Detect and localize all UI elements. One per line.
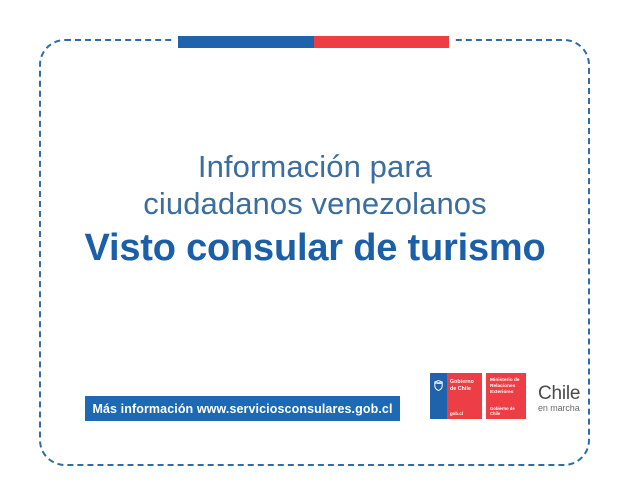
ministerio-label-line-3: Exteriores [490,390,520,396]
coat-of-arms-icon [432,379,445,392]
more-info-banner[interactable]: Más información www.serviciosconsulares.… [85,396,400,421]
gobierno-blue-bar [430,373,447,419]
gobierno-de-chile-logo: Gobierno de Chile gob.cl [430,373,482,419]
gobierno-label-line-1: Gobierno [450,379,474,386]
more-info-banner-text: Más información www.serviciosconsulares.… [92,402,392,416]
flag-stripe-bar [178,36,449,48]
chile-wordmark: Chile [538,384,580,403]
headline-block: Información para ciudadanos venezolanos … [0,150,630,270]
logo-lockup: Gobierno de Chile gob.cl Ministerio de R… [430,373,580,419]
chile-tagline: en marcha [538,404,580,413]
headline-line-2: ciudadanos venezolanos [0,187,630,222]
stripe-blue-segment [178,36,314,48]
stripe-red-segment [314,36,450,48]
poster-canvas: Información para ciudadanos venezolanos … [0,0,630,500]
ministerio-footer-label: Gobierno de Chile [490,406,526,416]
headline-line-3: Visto consular de turismo [0,227,630,270]
ministerio-label: Ministerio de Relaciones Exteriores [490,378,520,397]
gobierno-footer-label: gob.cl [450,411,463,416]
headline-line-1: Información para [0,150,630,185]
gobierno-label: Gobierno de Chile [450,379,474,392]
gobierno-label-line-2: de Chile [450,386,474,393]
ministerio-relaciones-exteriores-logo: Ministerio de Relaciones Exteriores Gobi… [486,373,526,419]
chile-en-marcha-logo: Chile en marcha [538,373,580,419]
